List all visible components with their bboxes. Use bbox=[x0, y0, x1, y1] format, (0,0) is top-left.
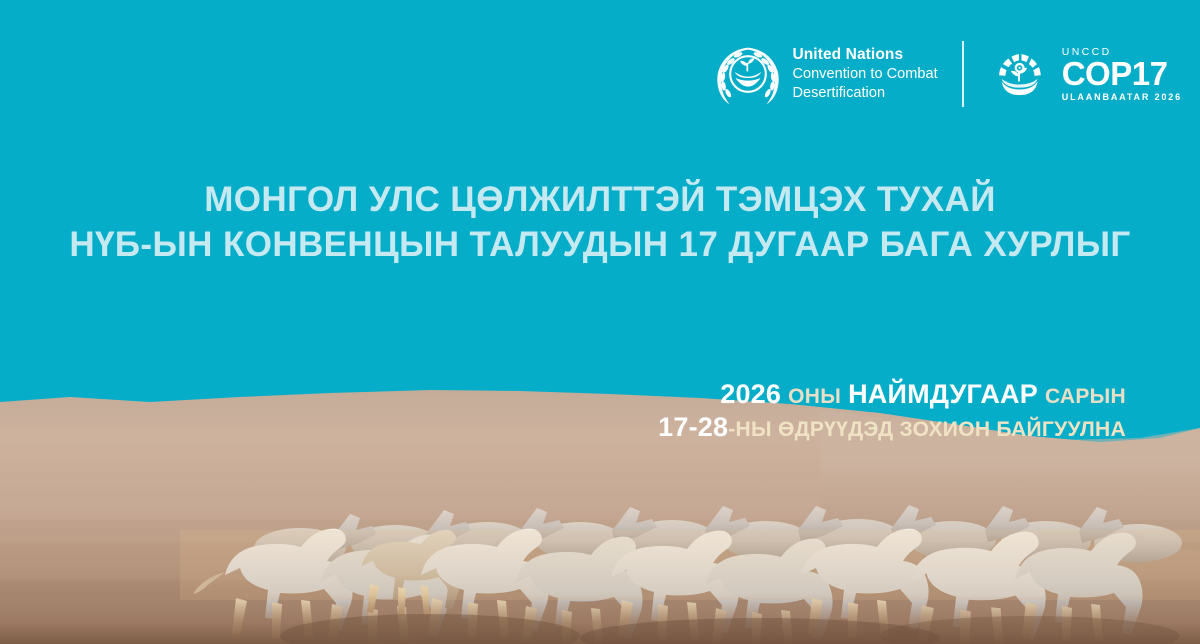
headline-line-1: МОНГОЛ УЛС ЦӨЛЖИЛТТЭЙ ТЭМЦЭХ ТУХАЙ bbox=[0, 178, 1200, 223]
un-logo-line3: Desertification bbox=[792, 84, 937, 103]
event-month-row: 2026ОНЫНАЙМДУГААРСАРЫН bbox=[658, 378, 1126, 411]
logo-bar: United Nations Convention to Combat Dese… bbox=[715, 36, 1182, 112]
un-logo-line1: United Nations bbox=[792, 45, 937, 65]
event-month: НАЙМДУГААР bbox=[848, 379, 1038, 409]
event-day-range: 17-28 bbox=[658, 412, 728, 442]
event-month-suffix: САРЫН bbox=[1045, 385, 1126, 408]
cop-subtitle: ULAANBAATAR 2026 bbox=[1062, 92, 1182, 102]
cop-title: COP17 bbox=[1062, 59, 1182, 89]
cop17-wordmark: UNCCD COP17 ULAANBAATAR 2026 bbox=[1062, 46, 1182, 102]
cop17-sun-sprout-emblem-icon bbox=[988, 43, 1050, 105]
unccd-logo: United Nations Convention to Combat Dese… bbox=[715, 41, 937, 107]
page-title: МОНГОЛ УЛС ЦӨЛЖИЛТТЭЙ ТЭМЦЭХ ТУХАЙ НҮБ-Ы… bbox=[0, 178, 1200, 268]
event-day-row: 17-28-НЫ ӨДРҮҮДЭД ЗОХИОН БАЙГУУЛНА bbox=[658, 411, 1126, 444]
unccd-wreath-emblem-icon bbox=[715, 41, 781, 107]
event-year-suffix: ОНЫ bbox=[788, 385, 841, 408]
logo-divider bbox=[962, 41, 964, 107]
event-day-suffix: -НЫ ӨДРҮҮДЭД ЗОХИОН БАЙГУУЛНА bbox=[728, 418, 1126, 441]
unccd-wordmark: United Nations Convention to Combat Dese… bbox=[792, 45, 937, 104]
cop17-logo: UNCCD COP17 ULAANBAATAR 2026 bbox=[988, 43, 1182, 105]
event-date-block: 2026ОНЫНАЙМДУГААРСАРЫН 17-28-НЫ ӨДРҮҮДЭД… bbox=[658, 378, 1126, 444]
event-year: 2026 bbox=[720, 379, 781, 409]
un-logo-line2: Convention to Combat bbox=[792, 65, 937, 84]
poster-canvas: United Nations Convention to Combat Dese… bbox=[0, 0, 1200, 644]
headline-line-2: НҮБ-ЫН КОНВЕНЦЫН ТАЛУУДЫН 17 ДУГААР БАГА… bbox=[0, 223, 1200, 268]
